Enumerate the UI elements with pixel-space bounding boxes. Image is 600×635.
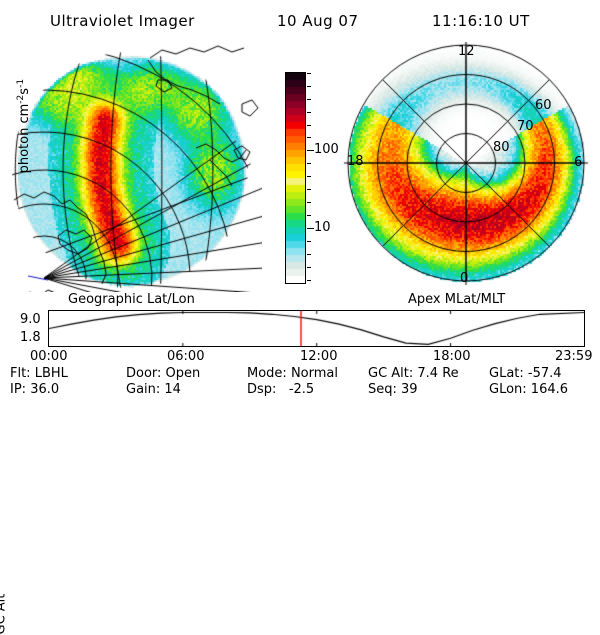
mlat-label-60: 60 (535, 99, 552, 112)
instrument-title: Ultraviolet Imager (50, 12, 195, 30)
colorbar-minor-tick (307, 86, 311, 87)
status-field-value: LBHL (31, 366, 68, 381)
colorbar-tick-label: 10 (314, 221, 331, 234)
geographic-image-panel (12, 42, 262, 292)
colorbar-minor-tick (307, 189, 311, 190)
colorbar-tick-label: 100 (314, 143, 339, 156)
colorbar-minor-tick (307, 112, 311, 113)
status-field-value: Normal (287, 366, 338, 381)
header-bar: Ultraviolet Imager 10 Aug 07 11:16:10 UT (0, 8, 600, 34)
observation-time: 11:16:10 UT (432, 12, 530, 30)
colorbar-minor-tick (307, 125, 311, 126)
orbit-plot-frame (48, 310, 585, 347)
colorbar-minor-tick (307, 215, 311, 216)
status-field: Dsp: -2.5 (247, 383, 314, 396)
status-field-label: Dsp: (247, 382, 276, 397)
colorbar-major-tick (307, 228, 314, 229)
status-field-label: Gain: (126, 382, 160, 397)
mlt-label-6: 6 (574, 156, 582, 169)
ut-tick-label: 06:00 (167, 350, 204, 363)
colorbar-minor-tick (307, 254, 311, 255)
status-field-label: GC Alt: (368, 366, 413, 381)
ut-tick-label: 18:00 (433, 350, 470, 363)
status-field: IP: 36.0 (10, 383, 59, 396)
status-field-value: 36.0 (26, 382, 59, 397)
mlt-label-18: 18 (347, 155, 364, 168)
colorbar-frame (285, 72, 306, 284)
ut-tick-label: 23:59 (555, 350, 592, 363)
status-field-label: Seq: (368, 382, 397, 397)
polar-panel-caption: Apex MLat/MLT (408, 292, 505, 307)
status-field: Flt: LBHL (10, 367, 68, 380)
apex-polar-panel (340, 42, 590, 292)
geographic-panel-caption: Geographic Lat/Lon (68, 292, 195, 307)
gc-alt-axis-title: GC Alt (0, 617, 9, 635)
colorbar-minor-tick (307, 241, 311, 242)
status-field-value: 164.6 (527, 382, 568, 397)
status-field-label: GLon: (489, 382, 527, 397)
status-field-value: -57.4 (524, 366, 562, 381)
status-field: Gain: 14 (126, 383, 181, 396)
status-field-label: GLat: (489, 366, 524, 381)
status-field-label: IP: (10, 382, 26, 397)
status-field-label: Door: (126, 366, 161, 381)
status-field: Mode: Normal (247, 367, 338, 380)
status-field-label: Flt: (10, 366, 31, 381)
colorbar-minor-tick (307, 163, 311, 164)
status-field: GC Alt: 7.4 Re (368, 367, 459, 380)
ut-tick-label: 00:00 (30, 350, 67, 363)
status-field-value: -2.5 (276, 382, 314, 397)
status-field-value: Open (161, 366, 200, 381)
status-field-value: 14 (160, 382, 181, 397)
mlt-label-0: 0 (460, 272, 468, 285)
status-field: Door: Open (126, 367, 200, 380)
colorbar-minor-tick (307, 280, 311, 281)
observation-date: 10 Aug 07 (277, 12, 359, 30)
status-field-label: Mode: (247, 366, 287, 381)
status-field: GLon: 164.6 (489, 383, 568, 396)
status-field: Seq: 39 (368, 383, 418, 396)
colorbar-major-tick (307, 150, 314, 151)
colorbar-minor-tick (307, 99, 311, 100)
colorbar-minor-tick (307, 267, 311, 268)
colorbar-minor-tick (307, 176, 311, 177)
colorbar-minor-tick (307, 137, 311, 138)
gc-alt-tick-9.0: 9.0 (20, 313, 41, 326)
mlt-label-12: 12 (458, 45, 475, 58)
mlat-label-80: 80 (493, 141, 510, 154)
status-field-value: 39 (397, 382, 418, 397)
colorbar-axis-label: photon cm-2s-1 (16, 66, 32, 186)
gc-alt-tick-1.8: 1.8 (20, 331, 41, 344)
mlat-label-70: 70 (517, 120, 534, 133)
colorbar-minor-tick (307, 73, 311, 74)
ut-tick-label: 12:00 (300, 350, 337, 363)
colorbar-minor-tick (307, 202, 311, 203)
status-field: GLat: -57.4 (489, 367, 562, 380)
status-field-value: 7.4 Re (413, 366, 458, 381)
